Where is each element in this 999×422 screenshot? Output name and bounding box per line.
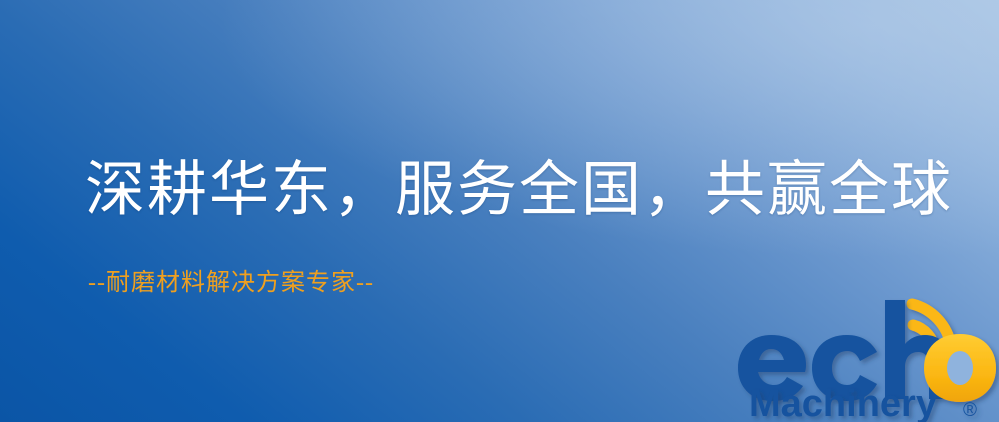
banner-headline: 深耕华东，服务全国，共赢全球: [85, 154, 953, 226]
logo-tagline: Machinery: [749, 383, 937, 422]
echo-machinery-logo: Machinery ®: [735, 292, 999, 422]
promo-banner: 深耕华东，服务全国，共赢全球 --耐磨材料解决方案专家--: [0, 0, 999, 422]
banner-subtitle: --耐磨材料解决方案专家--: [88, 268, 374, 298]
registered-trademark-icon: ®: [963, 400, 977, 421]
